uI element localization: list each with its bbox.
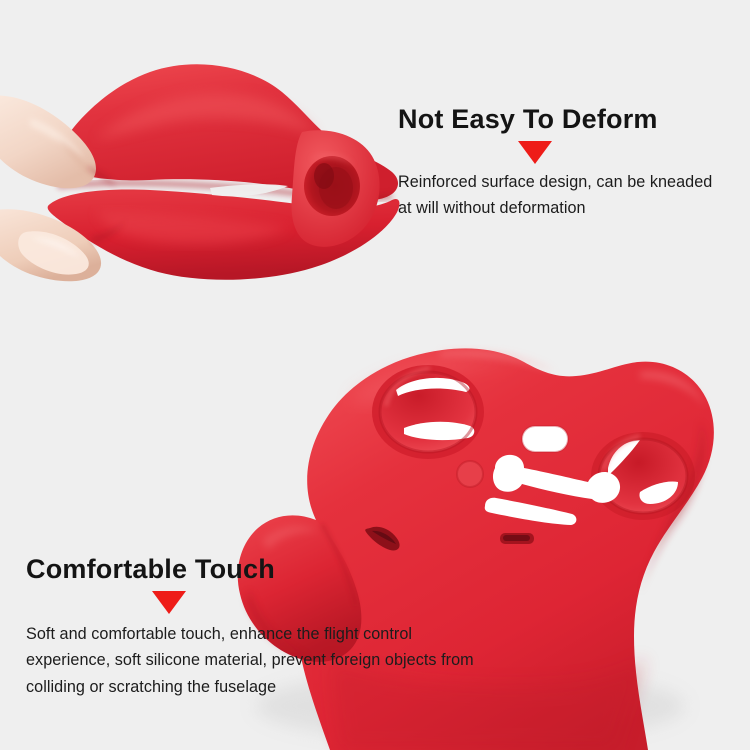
- down-triangle-icon: [152, 591, 186, 614]
- feature-description: Reinforced surface design, can be kneade…: [398, 169, 718, 221]
- product-feature-image: Not Easy To Deform Reinforced surface de…: [0, 0, 750, 750]
- triangle-marker-wrap: [398, 141, 718, 161]
- feature-block-comfortable-touch: Comfortable Touch Soft and comfortable t…: [26, 554, 496, 700]
- feature-title: Not Easy To Deform: [398, 104, 718, 134]
- feature-block-not-easy-to-deform: Not Easy To Deform Reinforced surface de…: [398, 104, 718, 222]
- feature-title: Comfortable Touch: [26, 554, 496, 584]
- triangle-marker-wrap: [26, 591, 496, 611]
- feature-description: Soft and comfortable touch, enhance the …: [26, 621, 496, 700]
- down-triangle-icon: [518, 141, 552, 164]
